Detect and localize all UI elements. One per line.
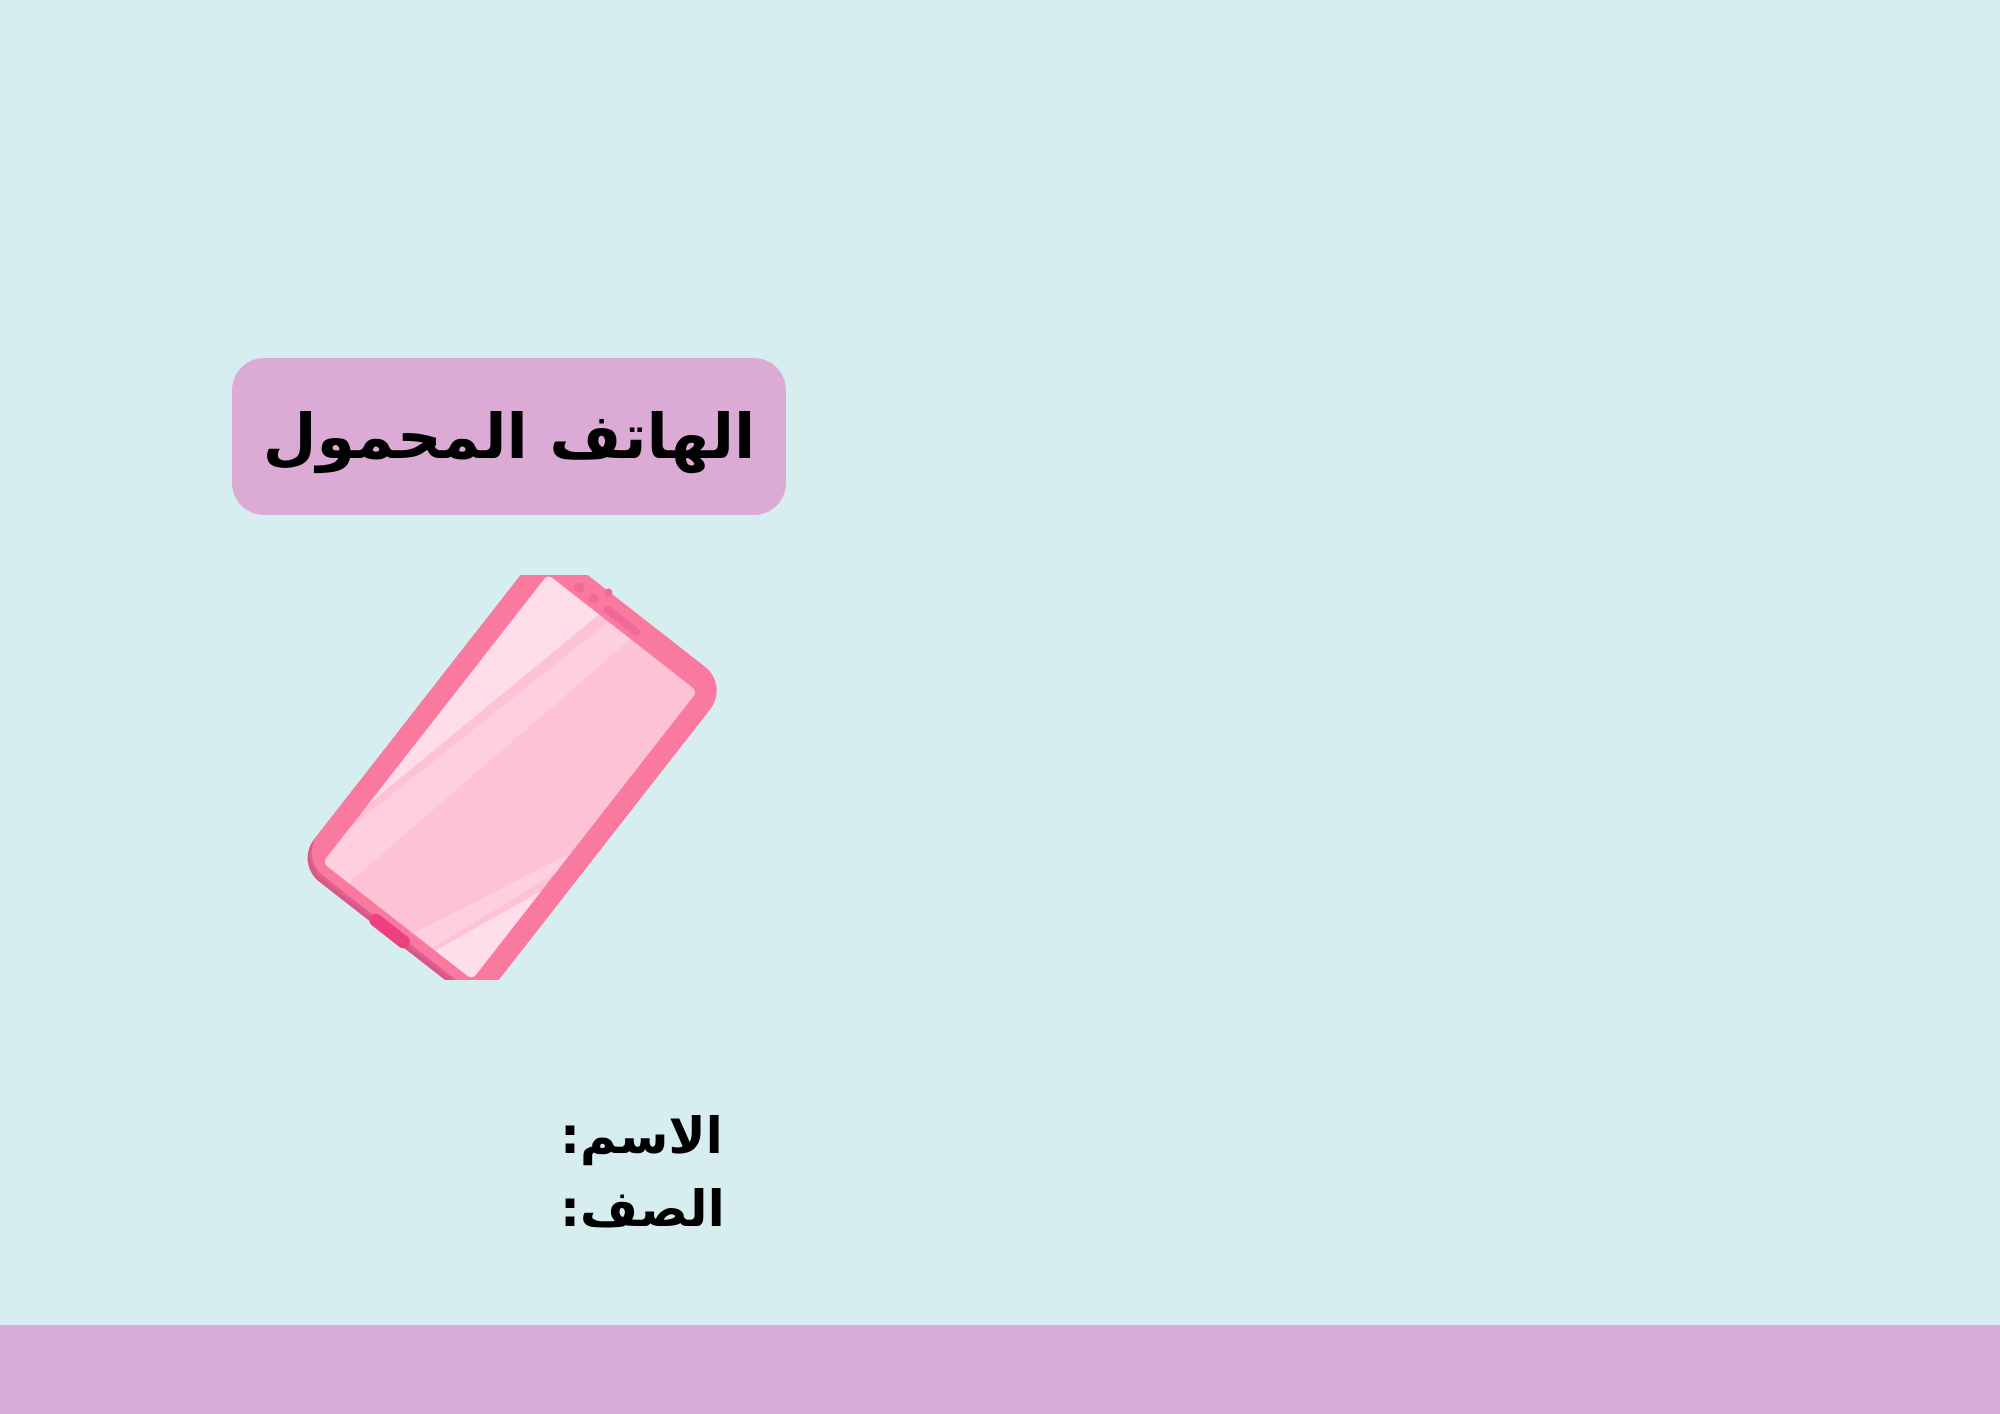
page-title: الهاتف المحمول <box>263 406 755 468</box>
mobile-phone-illustration <box>300 575 720 980</box>
class-field-label: الصف: <box>560 1173 925 1246</box>
bottom-decorative-bar <box>0 1325 2000 1414</box>
name-field-label: الاسم: <box>560 1100 925 1173</box>
worksheet-page: الهاتف المحمول <box>0 0 2000 1414</box>
student-info-fields: الاسم: الصف: <box>560 1100 925 1246</box>
title-banner: الهاتف المحمول <box>232 358 786 515</box>
